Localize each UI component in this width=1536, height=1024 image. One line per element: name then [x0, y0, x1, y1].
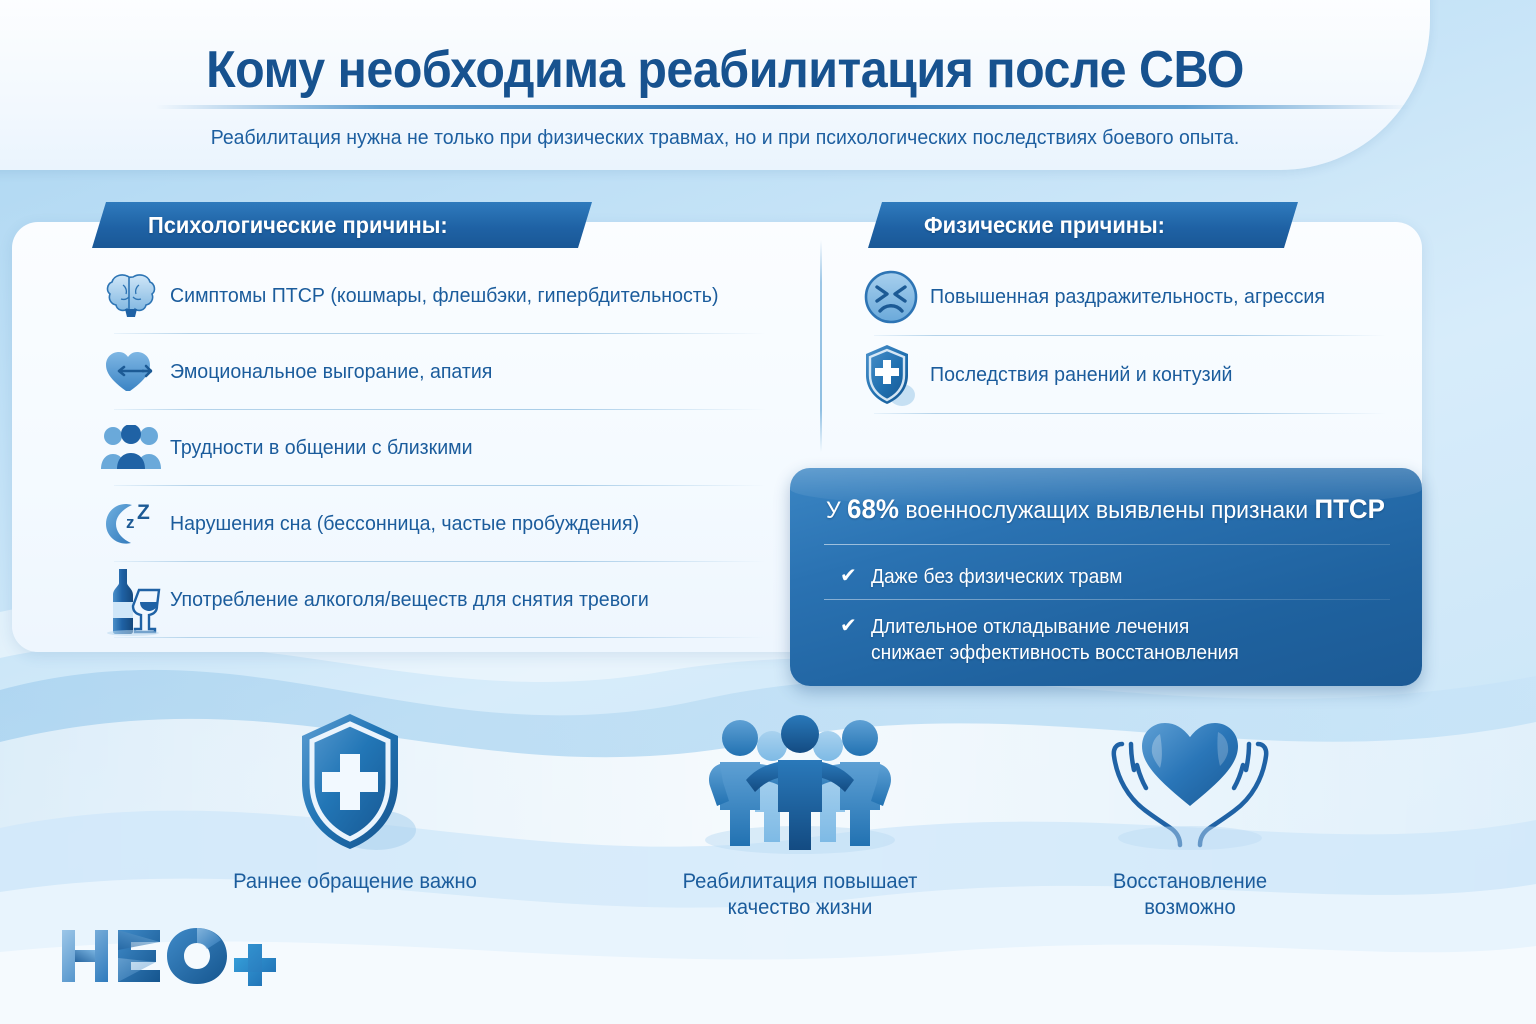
statistic-emphasis: ПТСР	[1314, 494, 1384, 524]
list-item-label: Последствия ранений и контузий	[930, 363, 1232, 387]
list-item: Трудности в общении с близкими	[92, 410, 792, 486]
logo	[58, 920, 288, 992]
svg-text:Z: Z	[137, 501, 150, 524]
list-item-label: Нарушения сна (бессонница, частые пробуж…	[170, 512, 639, 536]
psychological-causes-banner-label: Психологические причины:	[148, 212, 448, 239]
physical-causes-banner: Физические причины:	[868, 202, 1298, 248]
list-item-label: Употребление алкоголя/веществ для снятия…	[170, 588, 649, 612]
feature-quality-of-life: Реабилитация повышает качество жизни	[635, 705, 965, 922]
statistic-headline: У 68% военнослужащих выявлены признаки П…	[826, 494, 1369, 525]
bottle-glass-icon	[92, 564, 170, 636]
shield-cross-icon	[852, 343, 930, 407]
list-item-label: Симптомы ПТСР (кошмары, флешбэки, гиперб…	[170, 284, 718, 308]
check-icon: ✔	[840, 564, 857, 589]
list-item-label: Эмоциональное выгорание, апатия	[170, 360, 492, 384]
title-divider	[155, 105, 1410, 109]
statistic-divider	[824, 544, 1390, 545]
svg-text:z: z	[126, 513, 135, 532]
feature-caption: Восстановление возможно	[1046, 869, 1334, 922]
feature-early-treatment: Раннее обращение важно	[205, 705, 505, 895]
angry-face-icon	[852, 268, 930, 326]
column-divider	[820, 240, 822, 452]
list-item: Эмоциональное выгорание, апатия	[92, 334, 792, 410]
list-item: z Z Нарушения сна (бессонница, частые пр…	[92, 486, 792, 562]
feature-caption: Раннее обращение важно	[211, 869, 499, 895]
heart-burnout-icon	[92, 347, 170, 397]
list-item: Симптомы ПТСР (кошмары, флешбэки, гиперб…	[92, 258, 792, 334]
brain-icon	[92, 271, 170, 321]
psychological-causes-list: Симптомы ПТСР (кошмары, флешбэки, гиперб…	[92, 258, 792, 638]
people-support-icon	[635, 705, 965, 855]
list-item: Употребление алкоголя/веществ для снятия…	[92, 562, 792, 638]
statistic-rest: военнослужащих выявлены признаки	[899, 497, 1315, 524]
logo-neo-plus	[58, 920, 288, 992]
physical-causes-list: Повышенная раздражительность, агрессия П…	[852, 258, 1412, 414]
row-divider	[874, 413, 1386, 414]
statistic-prefix: У	[826, 497, 847, 524]
feature-caption: Реабилитация повышает качество жизни	[642, 869, 959, 922]
moon-sleep-icon: z Z	[92, 498, 170, 550]
people-group-icon	[92, 425, 170, 471]
statistic-bullet-label: Даже без физических травм	[871, 564, 1122, 590]
check-icon: ✔	[840, 614, 857, 639]
list-item: Повышенная раздражительность, агрессия	[852, 258, 1412, 336]
statistic-bullet: ✔ Длительное откладывание лечения снижае…	[840, 614, 1254, 666]
row-divider	[114, 637, 766, 638]
statistic-card: У 68% военнослужащих выявлены признаки П…	[790, 468, 1422, 686]
page-title: Кому необходима реабилитация после СВО	[107, 40, 1344, 100]
statistic-value: 68%	[847, 494, 899, 524]
statistic-bullet-label: Длительное откладывание лечения снижает …	[871, 614, 1239, 666]
infographic-canvas: Кому необходима реабилитация после СВО Р…	[0, 0, 1536, 1024]
bullet-divider	[824, 599, 1390, 600]
list-item: Последствия ранений и контузий	[852, 336, 1412, 414]
psychological-causes-banner: Психологические причины:	[92, 202, 592, 248]
hands-heart-icon	[1040, 705, 1340, 855]
list-item-label: Трудности в общении с близкими	[170, 436, 473, 460]
feature-recovery-possible: Восстановление возможно	[1040, 705, 1340, 922]
physical-causes-banner-label: Физические причины:	[924, 212, 1165, 239]
shield-cross-icon	[205, 705, 505, 855]
list-item-label: Повышенная раздражительность, агрессия	[930, 285, 1325, 309]
page-subtitle: Реабилитация нужна не только при физичес…	[93, 126, 1357, 150]
statistic-bullet: ✔ Даже без физических травм	[840, 564, 1133, 590]
